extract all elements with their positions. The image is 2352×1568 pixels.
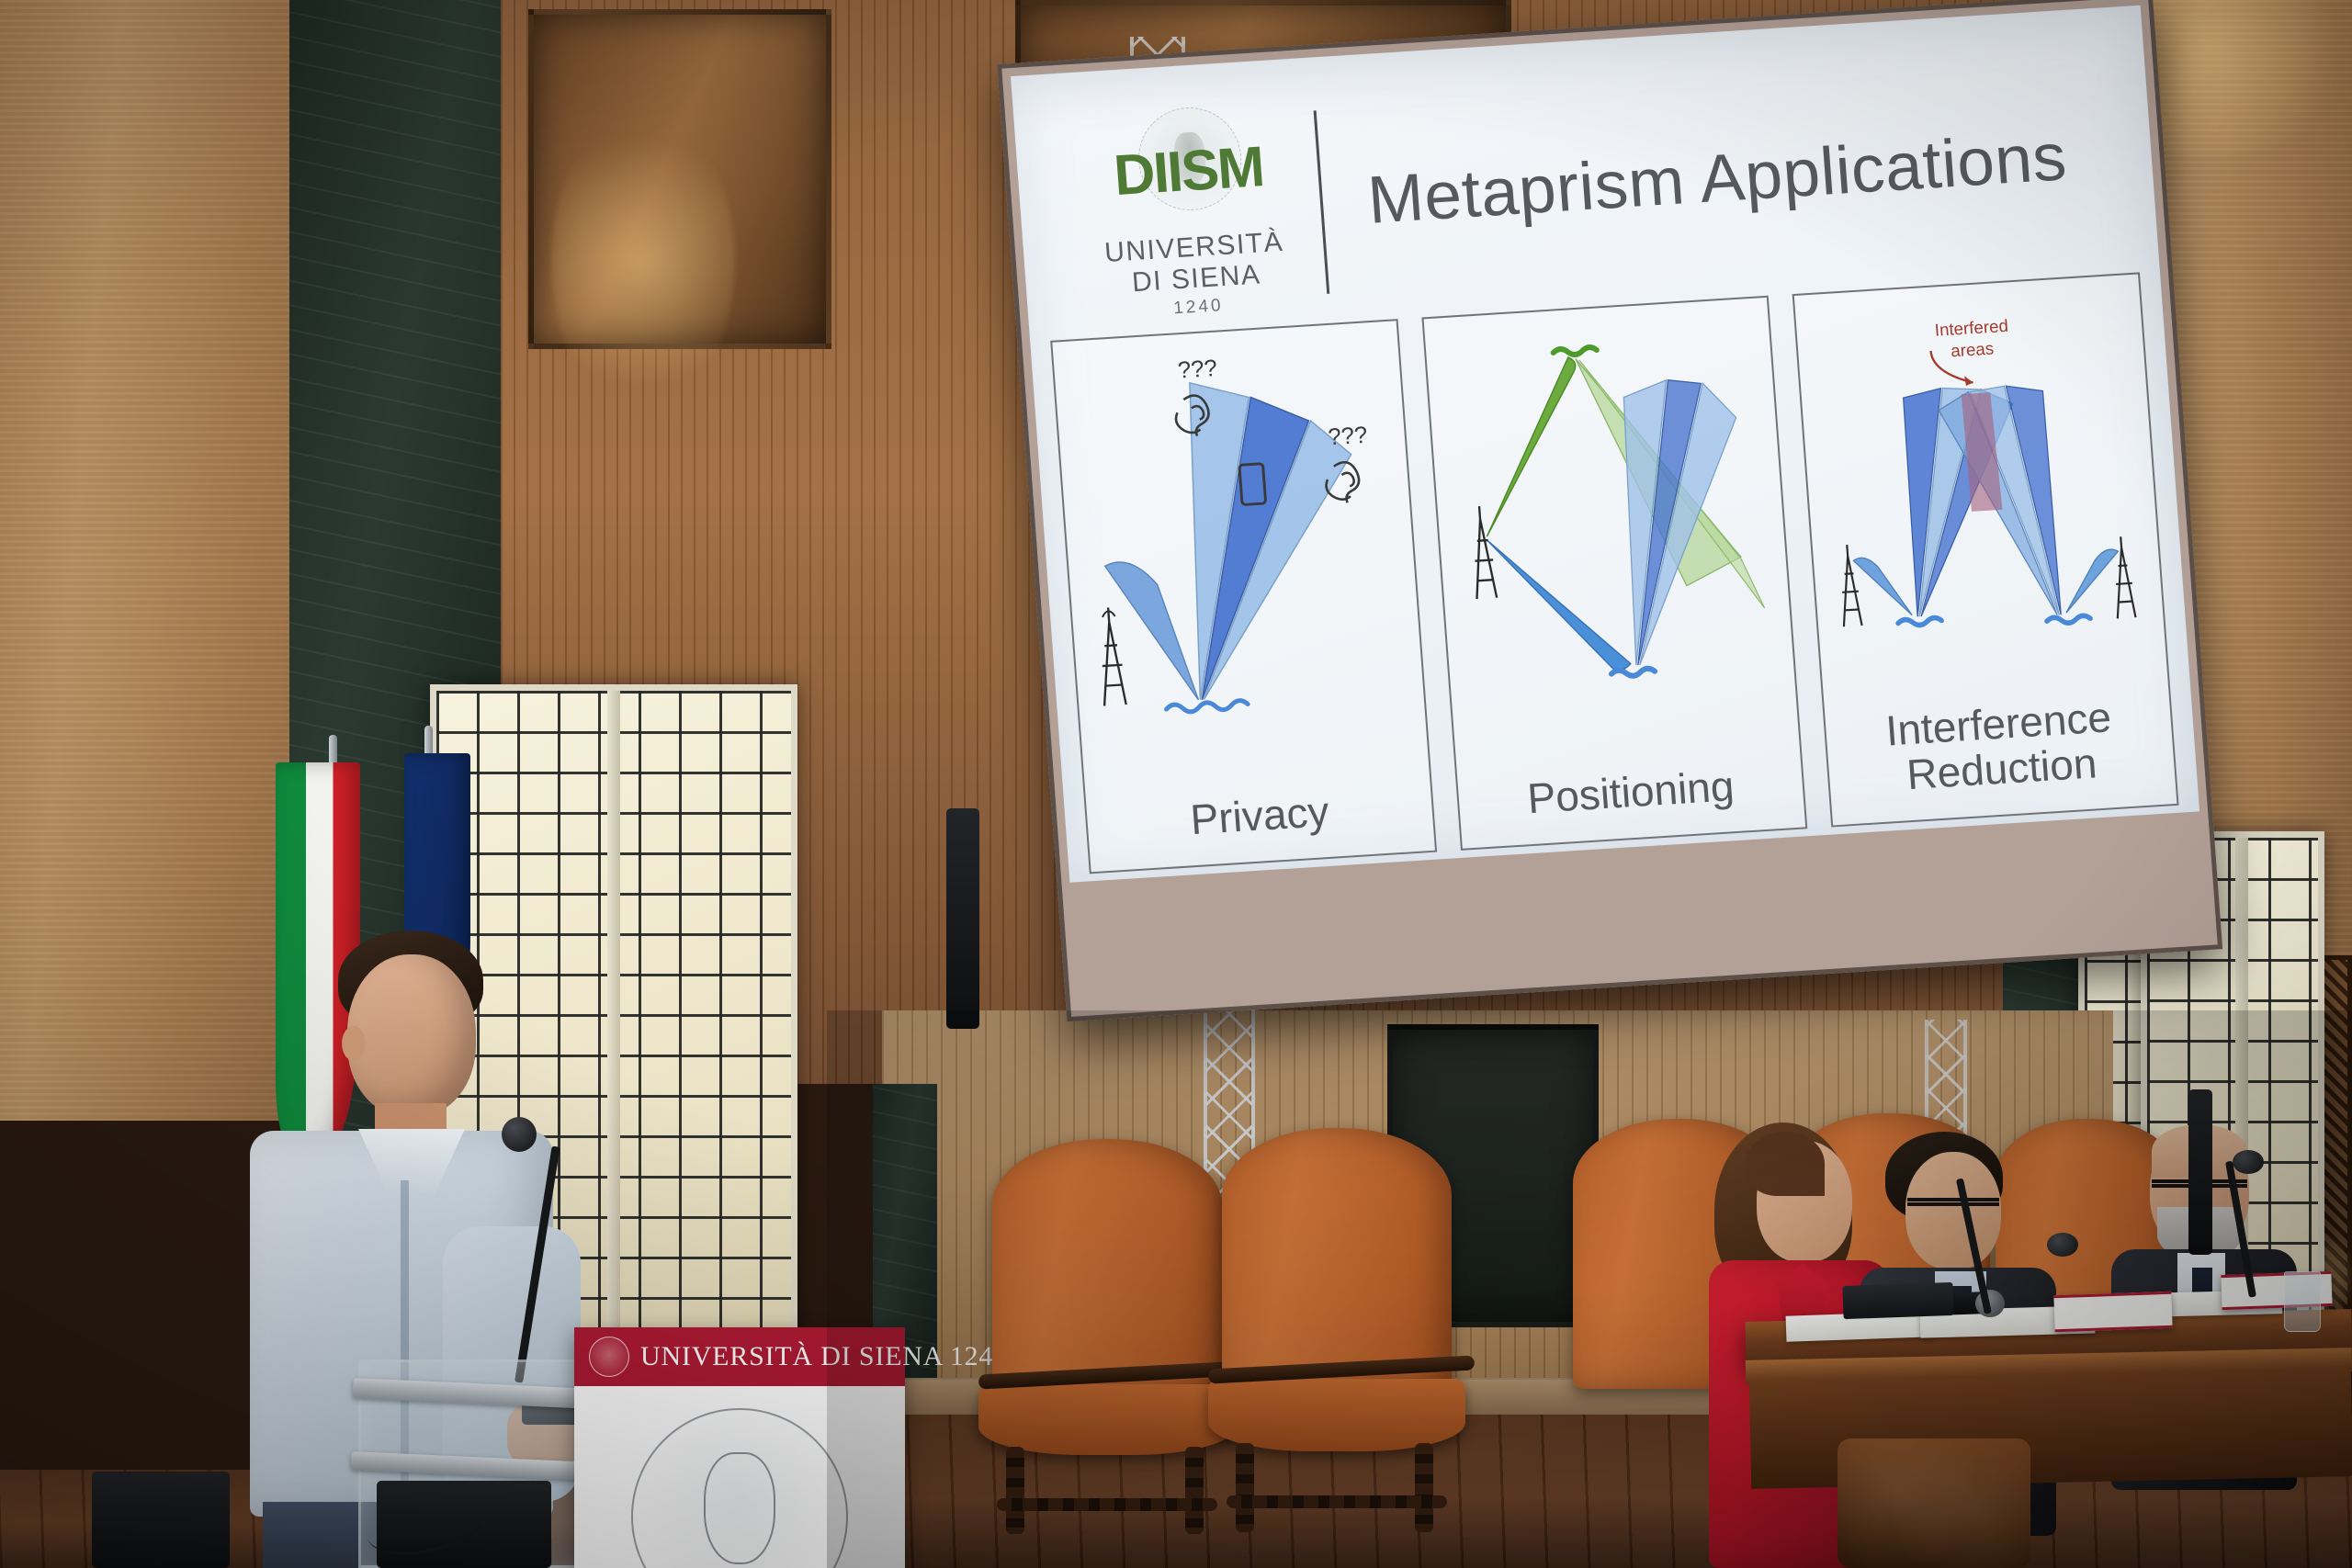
chair-1-seat [978, 1384, 1236, 1455]
banner-mini-seal-icon [589, 1337, 629, 1377]
chair-1-leg-right [1185, 1447, 1204, 1534]
universitatis-senarum-seal-icon [631, 1408, 848, 1568]
privacy-diagram: ??? ??? [1053, 330, 1425, 734]
panel-caption-positioning: Positioning [1457, 760, 1804, 827]
slide-panel-row: ??? ??? Privacy [1050, 272, 2178, 874]
empty-chair-1[interactable] [992, 1139, 1222, 1534]
positioning-blue-lobe [1487, 532, 1631, 678]
panel-microphone-head-right[interactable] [2233, 1150, 2264, 1174]
slide-panel-interference-reduction: Interfered areas Interference Reduction [1792, 272, 2179, 827]
presenter-head [347, 954, 476, 1116]
positioning-diagram [1424, 307, 1796, 711]
podium-banner-text: UNIVERSITÀ DI SIENA 1240 [640, 1341, 1008, 1372]
diism-logo: DIISM UNIVERSITÀ DI SIENA 1240 [1086, 117, 1297, 324]
metasurface-wavy-line-icon [1166, 700, 1248, 713]
nameplate-1 [2053, 1292, 2172, 1332]
cell-tower-icon-right [2112, 536, 2136, 619]
stage-speaker-left [2188, 1089, 2212, 1255]
wall-light-glow-left [551, 110, 735, 413]
header-divider [1314, 110, 1330, 294]
panelist-2-head [1905, 1152, 2001, 1269]
curved-arrow-head [1964, 376, 1973, 386]
interfered-areas-label-line-1: Interfered [1934, 316, 2009, 340]
podium-banner-header: UNIVERSITÀ DI SIENA 1240 [574, 1327, 905, 1386]
chair-2-leg-left [1236, 1443, 1254, 1532]
chair-2-leg-right [1415, 1443, 1433, 1532]
privacy-side-lobe [1105, 558, 1199, 705]
presentation-slide: DIISM UNIVERSITÀ DI SIENA 1240 Metaprism… [1011, 6, 2199, 883]
podium-banner: UNIVERSITÀ DI SIENA 1240 [574, 1327, 905, 1568]
interference-reduction-diagram: Interfered areas [1795, 283, 2167, 687]
metasurface-green-line-icon [1553, 347, 1597, 356]
privacy-question-marks-1: ??? [1177, 355, 1218, 384]
interference-left-sidelobe [1854, 555, 1913, 618]
lectern-microphone-head[interactable] [502, 1117, 537, 1152]
privacy-question-marks-2: ??? [1328, 423, 1369, 451]
slide-title: Metaprism Applications [1365, 118, 2069, 239]
stage-equipment-dark-left [92, 1472, 230, 1568]
panel-caption-interference-reduction: Interference Reduction [1825, 691, 2175, 804]
diism-acronym: DIISM [1105, 134, 1272, 209]
presenter-ear [342, 1026, 366, 1061]
laptop-on-table[interactable] [1842, 1282, 1953, 1319]
projection-screen: DIISM UNIVERSITÀ DI SIENA 1240 Metaprism… [997, 0, 2222, 1021]
slide-panel-positioning: Positioning [1421, 296, 1808, 851]
chair-2-stretcher [1227, 1495, 1447, 1508]
panel-microphone-head-left[interactable] [2047, 1233, 2078, 1257]
interfered-areas-label-line-2: areas [1951, 338, 1995, 360]
slide-panel-privacy: ??? ??? Privacy [1050, 319, 1437, 874]
stage-monitor [946, 808, 979, 1029]
cell-tower-icon-left [1838, 544, 1862, 626]
metasurface-wavy-line-icon-right [2047, 615, 2091, 625]
chair-2-seat [1208, 1379, 1465, 1451]
conference-hall-photo: DIISM UNIVERSITÀ DI SIENA 1240 Metaprism… [0, 0, 2352, 1568]
chair-1-leg-left [1006, 1447, 1024, 1534]
panelist-2-glasses [1907, 1198, 1999, 1206]
positioning-green-lobe [1474, 357, 1587, 537]
chair-1-stretcher [997, 1498, 1217, 1511]
interference-right-sidelobe [2063, 549, 2123, 613]
panelist-1-hair-front [1746, 1132, 1825, 1196]
empty-chair-2[interactable] [1222, 1128, 1452, 1532]
panel-caption-privacy: Privacy [1086, 783, 1433, 850]
metasurface-wavy-line-icon-left [1898, 617, 1942, 626]
cell-tower-icon [1470, 505, 1497, 599]
universita-di-siena-seal-icon: DIISM [1104, 118, 1273, 227]
water-glass[interactable] [2284, 1271, 2321, 1332]
metasurface-blue-line-icon [1611, 668, 1655, 677]
panel-table-carving [1837, 1438, 2030, 1568]
cell-tower-icon [1097, 607, 1125, 706]
